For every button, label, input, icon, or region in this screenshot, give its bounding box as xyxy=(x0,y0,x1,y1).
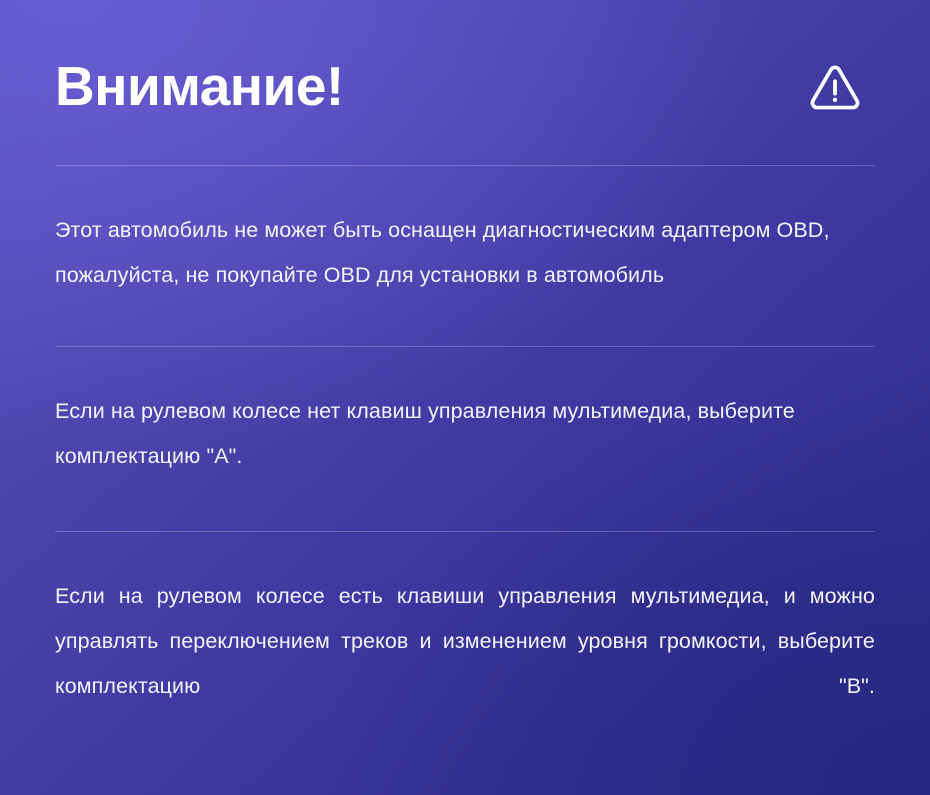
notice-header: Внимание! xyxy=(55,0,875,165)
variant-a-text: Если на рулевом колесе нет клавиш управл… xyxy=(55,389,875,479)
notice-block-variant-b: Если на рулевом колесе есть клавиши упра… xyxy=(55,532,875,794)
obd-warning-text: Этот автомобиль не может быть оснащен ди… xyxy=(55,208,875,298)
warning-notice-card: Внимание! Этот автомобиль не может быть … xyxy=(0,0,930,795)
warning-triangle-icon xyxy=(807,59,875,115)
variant-b-text: Если на рулевом колесе есть клавиши упра… xyxy=(55,574,875,754)
notice-block-variant-a: Если на рулевом колесе нет клавиш управл… xyxy=(55,347,875,531)
page-title: Внимание! xyxy=(55,59,344,114)
notice-block-obd-warning: Этот автомобиль не может быть оснащен ди… xyxy=(55,166,875,346)
